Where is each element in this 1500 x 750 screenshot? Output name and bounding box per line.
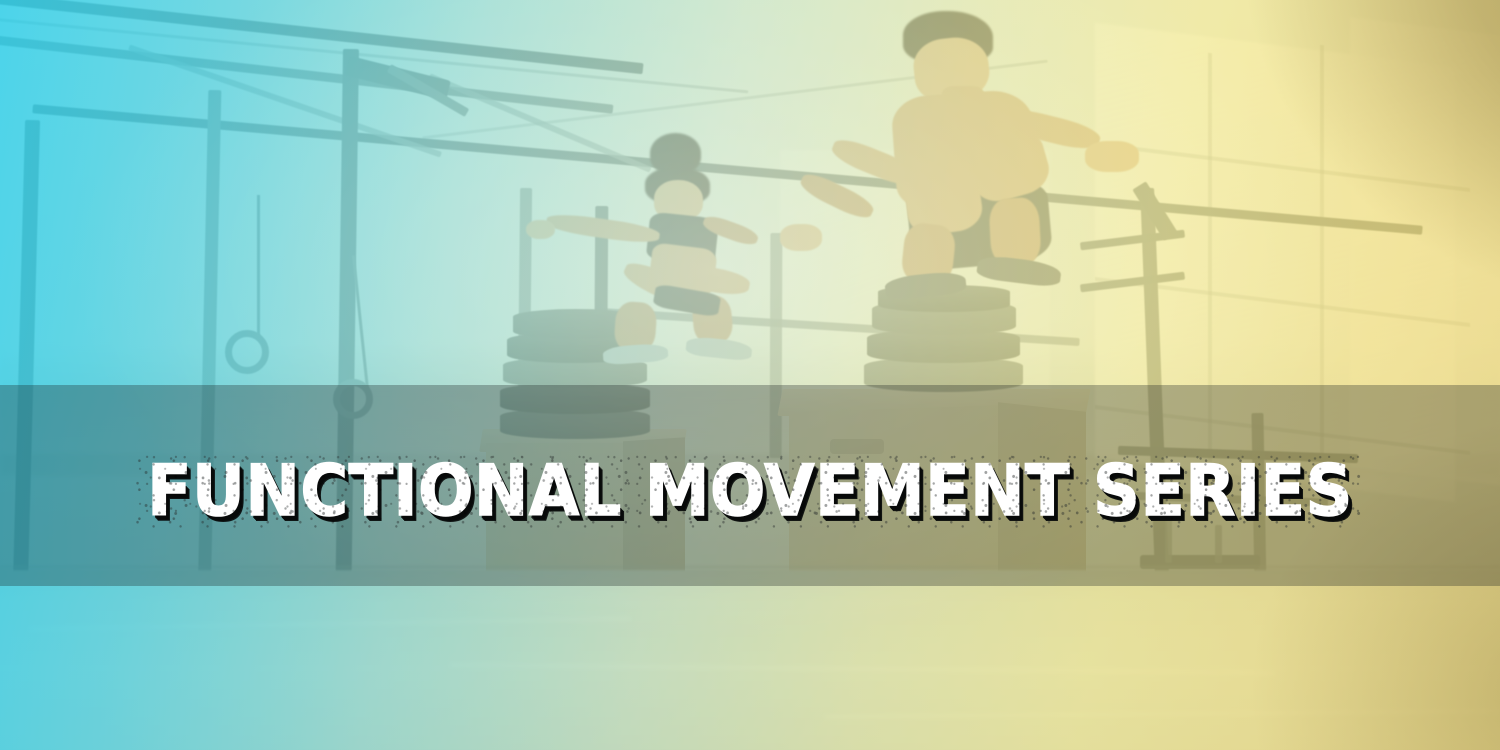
banner-image: FUNCTIONAL MOVEMENT SERIES bbox=[0, 0, 1500, 750]
bottom-right-corner-shadow bbox=[0, 0, 1500, 750]
page-title: FUNCTIONAL MOVEMENT SERIES bbox=[53, 456, 1448, 526]
page-title-text: FUNCTIONAL MOVEMENT SERIES bbox=[147, 456, 1353, 526]
